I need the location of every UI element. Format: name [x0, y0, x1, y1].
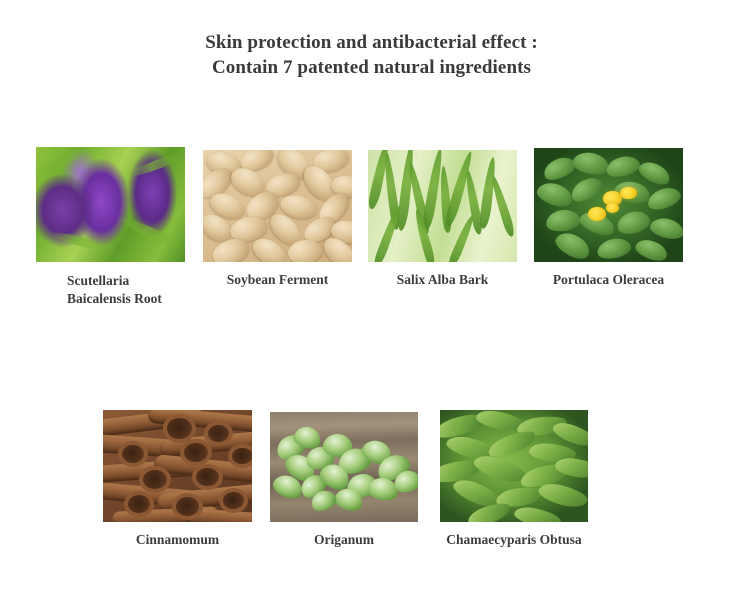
- ingredient-infographic: { "title": { "line1": "Skin protection a…: [0, 0, 743, 615]
- ingredient-image-portulaca-oleracea: [534, 148, 683, 262]
- hinoki-cypress-photo: [440, 410, 588, 522]
- fermented-soybeans-photo: [203, 150, 352, 262]
- ingredient-image-salix-alba-bark: [368, 150, 517, 262]
- ingredient-image-scutellaria-baicalensis-root: [36, 147, 185, 262]
- oregano-leaves-photo: [270, 412, 418, 522]
- cinnamon-sticks-photo: [103, 410, 252, 522]
- purslane-plant-photo: [534, 148, 683, 262]
- ingredient-image-cinnamomum: [103, 410, 252, 522]
- ingredient-label-portulaca-oleracea: Portulaca Oleracea: [528, 271, 689, 289]
- ingredient-label-cinnamomum: Cinnamomum: [103, 531, 252, 549]
- page-title-line-2: Contain 7 patented natural ingredients: [0, 55, 743, 80]
- purple-skullcap-flowers-photo: [36, 147, 185, 262]
- page-title: Skin protection and antibacterial effect…: [0, 30, 743, 80]
- ingredient-label-salix-alba-bark: Salix Alba Bark: [368, 271, 517, 289]
- willow-leaves-photo: [368, 150, 517, 262]
- ingredient-label-scutellaria-baicalensis-root: Scutellaria Baicalensis Root: [67, 272, 162, 308]
- page-title-line-1: Skin protection and antibacterial effect…: [0, 30, 743, 55]
- ingredient-label-soybean-ferment: Soybean Ferment: [203, 271, 352, 289]
- ingredient-image-chamaecyparis-obtusa: [440, 410, 588, 522]
- ingredient-label-origanum: Origanum: [270, 531, 418, 549]
- ingredient-label-chamaecyparis-obtusa: Chamaecyparis Obtusa: [434, 531, 594, 549]
- ingredient-image-origanum: [270, 412, 418, 522]
- ingredient-image-soybean-ferment: [203, 150, 352, 262]
